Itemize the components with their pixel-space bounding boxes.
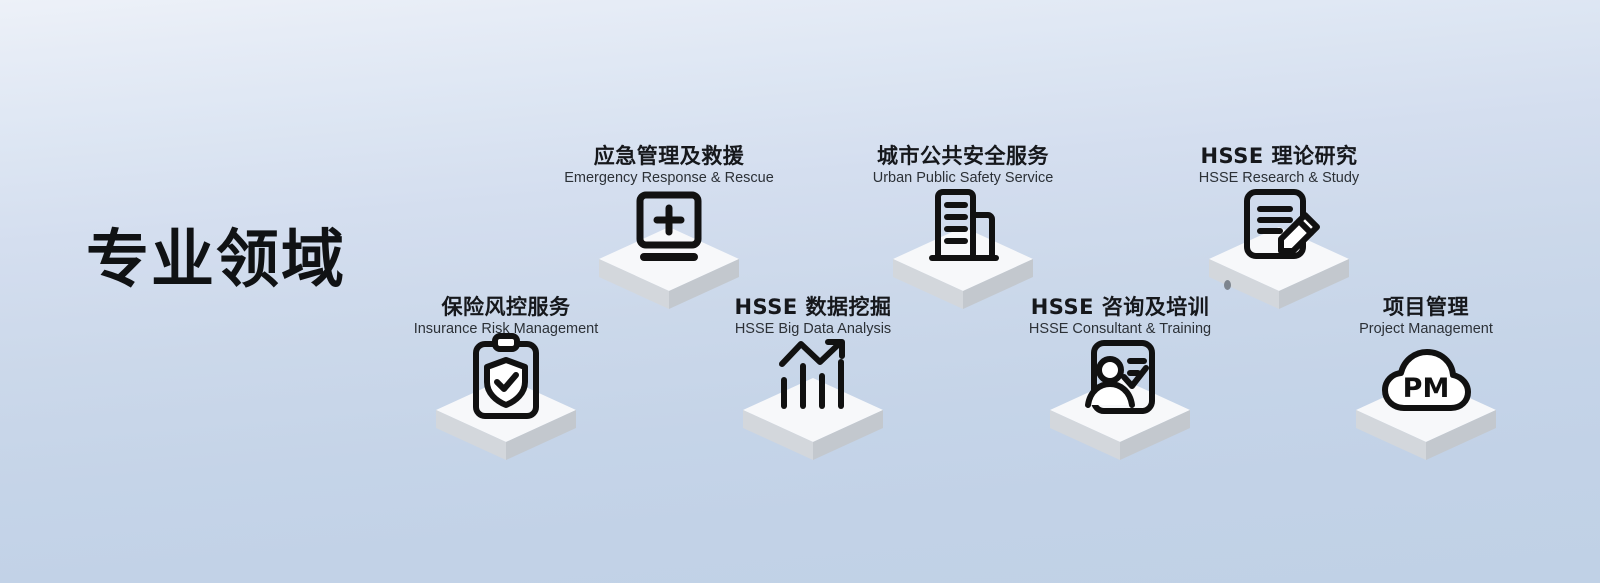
service-item-plinth: PM bbox=[1346, 348, 1506, 463]
service-item-plinth bbox=[733, 348, 893, 463]
service-item-icon-wrap bbox=[1199, 197, 1359, 312]
service-item-title-cn: 城市公共安全服务 bbox=[833, 145, 1093, 168]
service-item-icon-wrap bbox=[883, 197, 1043, 312]
service-item-title-en: HSSE Consultant & Training bbox=[990, 322, 1250, 338]
svg-text:PM: PM bbox=[1403, 373, 1450, 404]
service-item-icon-wrap: PM bbox=[1346, 348, 1506, 463]
page-title: 专业领域 bbox=[86, 228, 346, 291]
service-item-plinth bbox=[1199, 197, 1359, 312]
service-item-icon-wrap bbox=[589, 197, 749, 312]
plinth-stud-dot bbox=[1224, 280, 1231, 290]
service-item-title-en: Urban Public Safety Service bbox=[833, 171, 1093, 187]
service-item-hsse-big-data-analysis[interactable]: HSSE 数据挖掘HSSE Big Data Analysis bbox=[683, 296, 943, 463]
medical-plus-monitor-icon bbox=[632, 189, 706, 267]
service-item-icon-wrap bbox=[733, 348, 893, 463]
service-item-insurance-risk-management[interactable]: 保险风控服务Insurance Risk Management bbox=[376, 296, 636, 463]
service-item-hsse-research-study[interactable]: HSSE 理论研究HSSE Research & Study bbox=[1149, 145, 1409, 312]
service-item-plinth bbox=[883, 197, 1043, 312]
service-item-title-en: Emergency Response & Rescue bbox=[539, 171, 799, 187]
service-item-urban-public-safety-service[interactable]: 城市公共安全服务Urban Public Safety Service bbox=[833, 145, 1093, 312]
service-item-title-cn: 应急管理及救援 bbox=[539, 145, 799, 168]
service-item-plinth bbox=[589, 197, 749, 312]
cloud-pm-icon: PM bbox=[1380, 348, 1472, 414]
专业领域-banner: 专业领域 保险风控服务Insurance Risk Management 应急管… bbox=[0, 0, 1600, 583]
service-item-title-en: Project Management bbox=[1296, 322, 1556, 338]
id-card-person-check-icon bbox=[1080, 337, 1160, 417]
service-item-emergency-response-rescue[interactable]: 应急管理及救援Emergency Response & Rescue bbox=[539, 145, 799, 312]
service-item-plinth bbox=[426, 348, 586, 463]
clipboard-shield-check-icon bbox=[467, 334, 545, 420]
service-item-plinth bbox=[1040, 348, 1200, 463]
service-item-title-cn: 项目管理 bbox=[1296, 296, 1556, 319]
service-item-hsse-consultant-training[interactable]: HSSE 咨询及培训HSSE Consultant & Training bbox=[990, 296, 1250, 463]
service-item-title-cn: HSSE 理论研究 bbox=[1149, 145, 1409, 168]
service-item-icon-wrap bbox=[1040, 348, 1200, 463]
service-item-icon-wrap bbox=[426, 348, 586, 463]
service-item-project-management[interactable]: 项目管理Project Management PM bbox=[1296, 296, 1556, 463]
office-building-icon bbox=[928, 187, 998, 263]
bar-chart-trend-icon bbox=[772, 336, 854, 412]
document-pencil-icon bbox=[1237, 185, 1321, 267]
